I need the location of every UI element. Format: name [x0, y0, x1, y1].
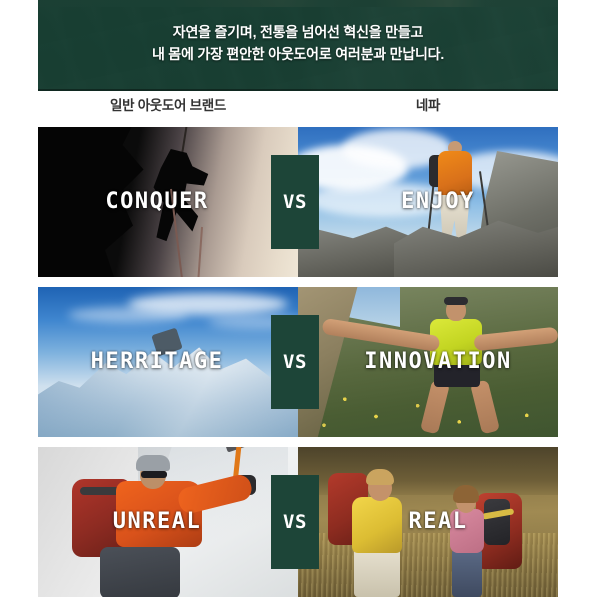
climber-legs	[100, 547, 180, 597]
comparison-panel-left: CONQUER	[38, 127, 298, 277]
panel-word-right: INNOVATION	[298, 351, 558, 373]
vs-badge-label: VS	[283, 513, 307, 532]
panel-word-left: UNREAL	[38, 511, 298, 533]
comparison-panel-right: ENJOY	[298, 127, 558, 277]
hero-tagline: 자연을 즐기며, 전통을 넘어선 혁신을 만들고 내 몸에 가장 편안한 아웃도…	[38, 21, 558, 65]
comparison-panel-left: HERRITAGE	[38, 287, 298, 437]
hiker-pants	[452, 549, 482, 597]
page-root: 자연을 즐기며, 전통을 넘어선 혁신을 만들고 내 몸에 가장 편안한 아웃도…	[0, 0, 600, 600]
hero-tagline-line-2: 내 몸에 가장 편안한 아웃도어로 여러분과 만납니다.	[38, 43, 558, 65]
hiker-hair	[366, 469, 394, 485]
panel-word-right: ENJOY	[298, 191, 558, 213]
comparison-row: HERRITAGE INNOVATION	[38, 287, 558, 437]
hiker-hair	[453, 485, 479, 503]
panel-word-left: CONQUER	[38, 191, 298, 213]
runner-arm	[473, 327, 558, 352]
hero-bottom-divider	[38, 89, 558, 91]
hero-banner: 자연을 즐기며, 전통을 넘어선 혁신을 만들고 내 몸에 가장 편안한 아웃도…	[38, 0, 558, 91]
hiker-pants	[354, 549, 400, 597]
column-headings: 일반 아웃도어 브랜드 네파	[38, 95, 558, 123]
vs-badge: VS	[271, 155, 319, 249]
vs-badge-label: VS	[283, 193, 307, 212]
rope-line	[197, 227, 203, 277]
vs-badge-label: VS	[283, 353, 307, 372]
vs-badge: VS	[271, 315, 319, 409]
panel-word-left: HERRITAGE	[38, 351, 298, 373]
runner-headband	[444, 297, 468, 305]
vs-badge: VS	[271, 475, 319, 569]
column-heading-left: 일반 아웃도어 브랜드	[38, 95, 298, 117]
comparison-panel-left: UNREAL	[38, 447, 298, 597]
column-heading-right: 네파	[298, 95, 558, 117]
comparison-rows: CONQUER ENJOY	[38, 127, 558, 607]
comparison-panel-right: INNOVATION	[298, 287, 558, 437]
cloud-wisp	[68, 307, 188, 323]
beanie-hat	[136, 455, 170, 471]
panel-word-right: REAL	[298, 511, 558, 533]
hero-tagline-line-1: 자연을 즐기며, 전통을 넘어선 혁신을 만들고	[38, 21, 558, 43]
comparison-panel-right: REAL	[298, 447, 558, 597]
comparison-row: CONQUER ENJOY	[38, 127, 558, 277]
sunglasses	[141, 471, 167, 478]
comparison-row: UNREAL	[38, 447, 558, 597]
